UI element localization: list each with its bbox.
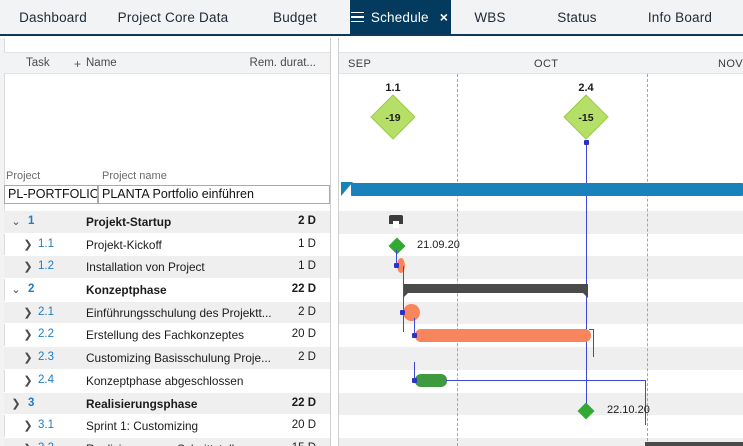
- add-column-icon[interactable]: +: [74, 57, 81, 71]
- dependency-link-vertical: [414, 318, 415, 334]
- tab-label: Project Core Data: [118, 10, 229, 25]
- tab-schedule[interactable]: Schedule ×: [350, 0, 451, 34]
- table-row[interactable]: ❯ 3.1 Sprint 1: Customizing 20 D: [4, 415, 330, 438]
- expand-toggle-icon[interactable]: ❯: [22, 351, 34, 364]
- task-bar[interactable]: [415, 329, 591, 342]
- top-milestone-value: -15: [566, 112, 606, 124]
- row-duration: 2 D: [298, 215, 316, 227]
- table-row[interactable]: ❯ 3.2 Realisierung von Schnittstellen 15…: [4, 438, 330, 446]
- row-wbs: 3.1: [38, 419, 54, 431]
- row-duration: 22 D: [292, 283, 316, 295]
- milestone-date-label: 22.10.20: [607, 404, 650, 416]
- collapse-toggle-icon[interactable]: ⌄: [10, 215, 22, 228]
- table-row[interactable]: ❯ 3 Realisierungsphase 22 D: [4, 393, 330, 416]
- dependency-link-vertical: [396, 250, 397, 264]
- expand-toggle-icon[interactable]: ❯: [22, 374, 34, 387]
- task-bar[interactable]: [403, 304, 420, 321]
- panel-splitter[interactable]: [330, 38, 339, 446]
- row-wbs: 3: [28, 397, 34, 409]
- row-duration: 20 D: [292, 328, 316, 340]
- table-row[interactable]: ⌄ 1 Projekt-Startup 2 D: [4, 211, 330, 234]
- dependency-link-vertical: [414, 362, 415, 379]
- row-name: Realisierung von Schnittstellen: [86, 442, 247, 446]
- close-icon[interactable]: ×: [440, 10, 448, 24]
- gantt-panel: SEP OCT NOV 1.1 -19 2.4 -15: [339, 38, 743, 446]
- gantt-row-stripe: [339, 347, 743, 370]
- row-duration: 2 D: [298, 351, 316, 363]
- main-tabbar: Dashboard Project Core Data Budget Sched…: [0, 0, 743, 36]
- hamburger-icon[interactable]: [351, 12, 364, 23]
- task-grid-panel: Task + Name Rem. durat... Project Projec…: [0, 38, 330, 446]
- row-wbs: 2.1: [38, 306, 54, 318]
- row-duration: 15 D: [292, 442, 316, 446]
- milestone-diamond[interactable]: [389, 238, 406, 255]
- tab-label: Schedule: [371, 10, 429, 25]
- expand-toggle-icon[interactable]: ❯: [22, 419, 34, 432]
- row-name: Projekt-Startup: [86, 215, 171, 229]
- tab-label: Info Board: [648, 10, 712, 25]
- project-label: Project: [6, 170, 40, 182]
- expand-toggle-icon[interactable]: ❯: [22, 442, 34, 446]
- dependency-link-vertical: [593, 329, 594, 357]
- gantt-chart[interactable]: 1.1 -19 2.4 -15 21.09.20: [339, 74, 743, 446]
- table-row[interactable]: ❯ 1.2 Installation von Project 1 D: [4, 256, 330, 279]
- top-milestone-value: -19: [373, 112, 413, 124]
- row-duration: 22 D: [292, 397, 316, 409]
- project-name-label: Project name: [102, 170, 167, 182]
- gantt-row-stripe: [339, 393, 743, 416]
- row-duration: 2 D: [298, 306, 316, 318]
- column-header-remaining-duration[interactable]: Rem. durat...: [250, 57, 316, 69]
- tab-budget[interactable]: Budget: [240, 0, 350, 34]
- timeline-month-sep: SEP: [348, 58, 371, 70]
- row-name: Einführungsschulung des Projektt...: [86, 306, 272, 320]
- row-wbs: 3.2: [38, 442, 54, 446]
- timeline-month-oct: OCT: [534, 58, 558, 70]
- tab-label: Budget: [273, 10, 317, 25]
- timeline-header: SEP OCT NOV: [339, 52, 743, 74]
- collapse-toggle-icon[interactable]: ⌄: [10, 283, 22, 296]
- tab-info-board[interactable]: Info Board: [625, 0, 735, 34]
- expand-toggle-icon[interactable]: ❯: [10, 397, 22, 410]
- row-duration: 1 D: [298, 238, 316, 250]
- dependency-link-vertical: [403, 266, 404, 332]
- row-name: Erstellung des Fachkonzeptes: [86, 328, 244, 342]
- gantt-gridline-nov: [647, 74, 648, 446]
- table-row[interactable]: ❯ 1.1 Projekt-Kickoff 1 D: [4, 234, 330, 257]
- row-duration: 20 D: [292, 419, 316, 431]
- row-duration: 1 D: [298, 260, 316, 272]
- row-name: Installation von Project: [86, 260, 205, 274]
- tab-label: Status: [557, 10, 596, 25]
- summary-bar[interactable]: [645, 442, 743, 446]
- top-milestone-code: 1.1: [373, 82, 413, 94]
- row-wbs: 2.4: [38, 374, 54, 386]
- table-row[interactable]: ❯ 2.3 Customizing Basisschulung Proje...…: [4, 347, 330, 370]
- dependency-node: [584, 140, 589, 145]
- row-wbs: 2: [28, 283, 34, 295]
- timeline-month-nov: NOV: [718, 58, 743, 70]
- project-id-field[interactable]: PL-PORTFOLIO: [4, 185, 98, 204]
- dependency-link-vertical: [645, 380, 646, 425]
- table-row[interactable]: ❯ 2.4 Konzeptphase abgeschlossen: [4, 370, 330, 393]
- row-wbs: 1: [28, 215, 34, 227]
- top-milestone-code: 2.4: [566, 82, 606, 94]
- tab-status[interactable]: Status: [529, 0, 625, 34]
- gantt-gridline-oct: [457, 74, 458, 446]
- expand-toggle-icon[interactable]: ❯: [22, 306, 34, 319]
- row-name: Realisierungsphase: [86, 397, 197, 411]
- table-row[interactable]: ❯ 2.1 Einführungsschulung des Projektt..…: [4, 302, 330, 325]
- column-header-name[interactable]: Name: [86, 57, 117, 69]
- project-bar[interactable]: [351, 183, 743, 196]
- row-wbs: 2.2: [38, 328, 54, 340]
- row-name: Sprint 1: Customizing: [86, 419, 198, 433]
- table-row[interactable]: ❯ 2.2 Erstellung des Fachkonzeptes 20 D: [4, 324, 330, 347]
- row-name: Projekt-Kickoff: [86, 238, 162, 252]
- dependency-link-horizontal: [589, 329, 594, 330]
- row-wbs: 2.3: [38, 351, 54, 363]
- tab-label: WBS: [474, 10, 505, 25]
- row-wbs: 1.2: [38, 260, 54, 272]
- expand-toggle-icon[interactable]: ❯: [22, 238, 34, 251]
- row-name: Customizing Basisschulung Proje...: [86, 351, 271, 365]
- row-name: Konzeptphase abgeschlossen: [86, 374, 243, 388]
- schedule-screen: Dashboard Project Core Data Budget Sched…: [0, 0, 743, 446]
- tab-wbs[interactable]: WBS: [451, 0, 529, 34]
- row-name: Konzeptphase: [86, 283, 167, 297]
- tab-dashboard[interactable]: Dashboard: [0, 0, 106, 34]
- task-list: ⌄ 1 Projekt-Startup 2 D ❯ 1.1 Projekt-Ki…: [4, 211, 330, 446]
- expand-toggle-icon[interactable]: ❯: [22, 328, 34, 341]
- milestone-date-label: 21.09.20: [417, 239, 460, 251]
- project-name-field[interactable]: PLANTA Portfolio einführen: [98, 185, 330, 204]
- flag-icon: [389, 215, 403, 228]
- tab-project-core-data[interactable]: Project Core Data: [106, 0, 240, 34]
- grid-column-header: Task + Name Rem. durat...: [4, 52, 330, 74]
- tab-label: Dashboard: [19, 10, 87, 25]
- dependency-link-horizontal: [446, 380, 646, 381]
- summary-bar[interactable]: [403, 284, 588, 293]
- expand-toggle-icon[interactable]: ❯: [22, 260, 34, 273]
- task-bar[interactable]: [415, 374, 447, 387]
- project-bar-start-cap: [341, 182, 353, 196]
- table-row[interactable]: ⌄ 2 Konzeptphase 22 D: [4, 279, 330, 302]
- row-wbs: 1.1: [38, 238, 54, 250]
- dependency-node: [400, 310, 405, 315]
- column-header-task[interactable]: Task: [26, 57, 50, 69]
